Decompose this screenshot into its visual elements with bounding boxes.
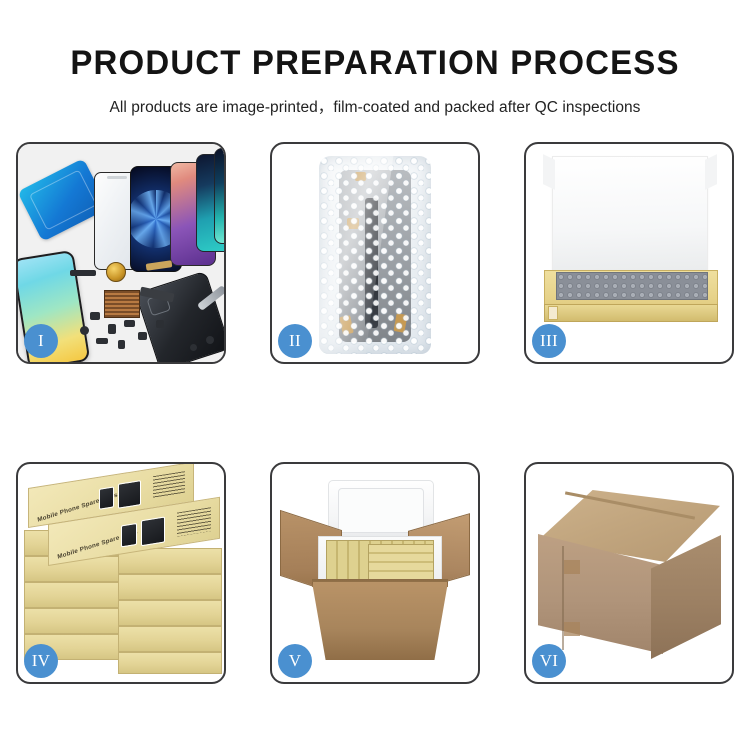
bubble-wrap-padding [556,272,708,300]
process-step-card-6[interactable]: VI [524,462,734,684]
process-step-card-2[interactable]: II [270,142,480,364]
page-header: PRODUCT PREPARATION PROCESS All products… [0,0,750,117]
step-badge-3: III [532,324,566,358]
small-part-bar [70,270,96,276]
step-badge-6: VI [532,644,566,678]
process-steps-grid: I II [16,142,735,684]
white-box-lid [552,156,708,276]
step-badge-4: IV [24,644,58,678]
step-numeral-5: V [289,651,302,671]
product-preparation-page: PRODUCT PREPARATION PROCESS All products… [0,0,750,750]
kraft-tray-front [544,304,718,322]
step-badge-2: II [278,324,312,358]
step-numeral-4: IV [32,651,51,671]
teal-display-panel-2 [214,148,224,244]
chip-grid-component [104,290,140,318]
step-badge-5: V [278,644,312,678]
kraft-tray-tab [548,306,558,320]
step-numeral-6: VI [540,651,559,671]
process-step-card-5[interactable]: V [270,462,480,684]
bubble-wrap-bag [319,156,431,354]
process-step-card-3[interactable]: III [524,142,734,364]
carton-front-panel [312,582,448,660]
step-numeral-3: III [540,331,558,351]
step-numeral-1: I [38,331,44,351]
carton-tape-lower [564,622,580,636]
carton-tape-upper [564,560,580,574]
page-subtitle: All products are image-printed，film-coat… [0,95,750,117]
step-badge-1: I [24,324,58,358]
page-title: PRODUCT PREPARATION PROCESS [11,44,739,83]
gold-component [106,262,126,282]
step-numeral-2: II [289,331,301,351]
packed-kraft-boxes-2 [368,544,434,580]
process-step-card-1[interactable]: I [16,142,226,364]
process-step-card-4[interactable]: Mobile Phone Spare Parts Mobile Phone Sp… [16,462,226,684]
